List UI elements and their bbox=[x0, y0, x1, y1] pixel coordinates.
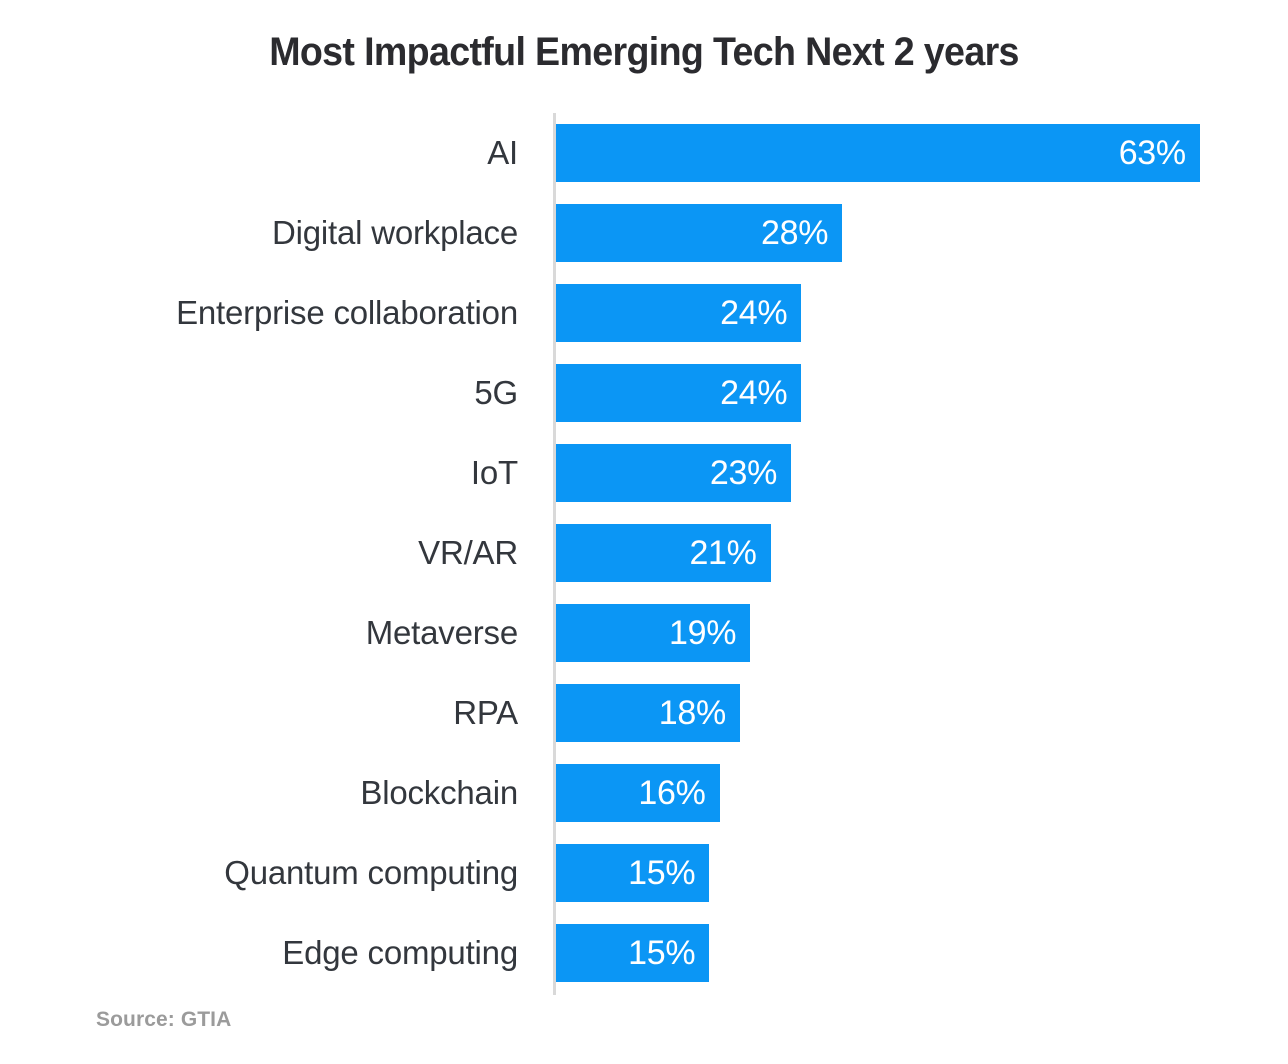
bar-value-label: 15% bbox=[628, 934, 709, 973]
bar[interactable]: 63% bbox=[556, 124, 1200, 182]
bar[interactable]: 21% bbox=[556, 524, 771, 582]
category-label: Metaverse bbox=[366, 593, 518, 673]
bar-row: Digital workplace28% bbox=[0, 193, 1288, 273]
category-label: Enterprise collaboration bbox=[176, 273, 518, 353]
category-label: AI bbox=[487, 113, 518, 193]
bar[interactable]: 28% bbox=[556, 204, 842, 262]
bar-value-label: 18% bbox=[659, 694, 740, 733]
bar-row-list: AI63%Digital workplace28%Enterprise coll… bbox=[0, 113, 1288, 993]
category-label: Quantum computing bbox=[224, 833, 518, 913]
bar-track: 28% bbox=[556, 204, 842, 262]
bar-track: 24% bbox=[556, 284, 801, 342]
bar[interactable]: 15% bbox=[556, 844, 709, 902]
category-label: RPA bbox=[453, 673, 518, 753]
category-label: IoT bbox=[471, 433, 518, 513]
bar[interactable]: 18% bbox=[556, 684, 740, 742]
bar-row: Metaverse19% bbox=[0, 593, 1288, 673]
bar-track: 19% bbox=[556, 604, 750, 662]
bar-track: 21% bbox=[556, 524, 771, 582]
bar-value-label: 24% bbox=[720, 294, 801, 333]
bar-value-label: 24% bbox=[720, 374, 801, 413]
bar-track: 16% bbox=[556, 764, 720, 822]
source-note: Source: GTIA bbox=[96, 1008, 231, 1032]
bar-row: AI63% bbox=[0, 113, 1288, 193]
bar[interactable]: 24% bbox=[556, 364, 801, 422]
bar-value-label: 19% bbox=[669, 614, 750, 653]
category-label: Edge computing bbox=[282, 913, 518, 993]
bar-row: IoT23% bbox=[0, 433, 1288, 513]
bar-row: RPA18% bbox=[0, 673, 1288, 753]
bar-row: 5G24% bbox=[0, 353, 1288, 433]
bar-value-label: 16% bbox=[638, 774, 719, 813]
bar-track: 63% bbox=[556, 124, 1200, 182]
bar-track: 15% bbox=[556, 924, 709, 982]
bar-track: 24% bbox=[556, 364, 801, 422]
bar-value-label: 23% bbox=[710, 454, 791, 493]
category-label: Digital workplace bbox=[272, 193, 518, 273]
bar[interactable]: 16% bbox=[556, 764, 720, 822]
bar[interactable]: 19% bbox=[556, 604, 750, 662]
bar-row: Quantum computing15% bbox=[0, 833, 1288, 913]
bar-value-label: 63% bbox=[1119, 134, 1200, 173]
bar-track: 15% bbox=[556, 844, 709, 902]
bar-track: 18% bbox=[556, 684, 740, 742]
bar-row: Edge computing15% bbox=[0, 913, 1288, 993]
plot-area: AI63%Digital workplace28%Enterprise coll… bbox=[0, 113, 1288, 997]
category-label: Blockchain bbox=[360, 753, 518, 833]
chart-figure: Most Impactful Emerging Tech Next 2 year… bbox=[0, 0, 1288, 1064]
category-label: 5G bbox=[474, 353, 518, 433]
category-label: VR/AR bbox=[418, 513, 518, 593]
page-title: Most Impactful Emerging Tech Next 2 year… bbox=[39, 30, 1250, 75]
bar-row: VR/AR21% bbox=[0, 513, 1288, 593]
bar[interactable]: 23% bbox=[556, 444, 791, 502]
bar-track: 23% bbox=[556, 444, 791, 502]
bar-row: Enterprise collaboration24% bbox=[0, 273, 1288, 353]
bar-value-label: 28% bbox=[761, 214, 842, 253]
bar[interactable]: 24% bbox=[556, 284, 801, 342]
bar-row: Blockchain16% bbox=[0, 753, 1288, 833]
bar-value-label: 21% bbox=[689, 534, 770, 573]
bar-value-label: 15% bbox=[628, 854, 709, 893]
bar[interactable]: 15% bbox=[556, 924, 709, 982]
